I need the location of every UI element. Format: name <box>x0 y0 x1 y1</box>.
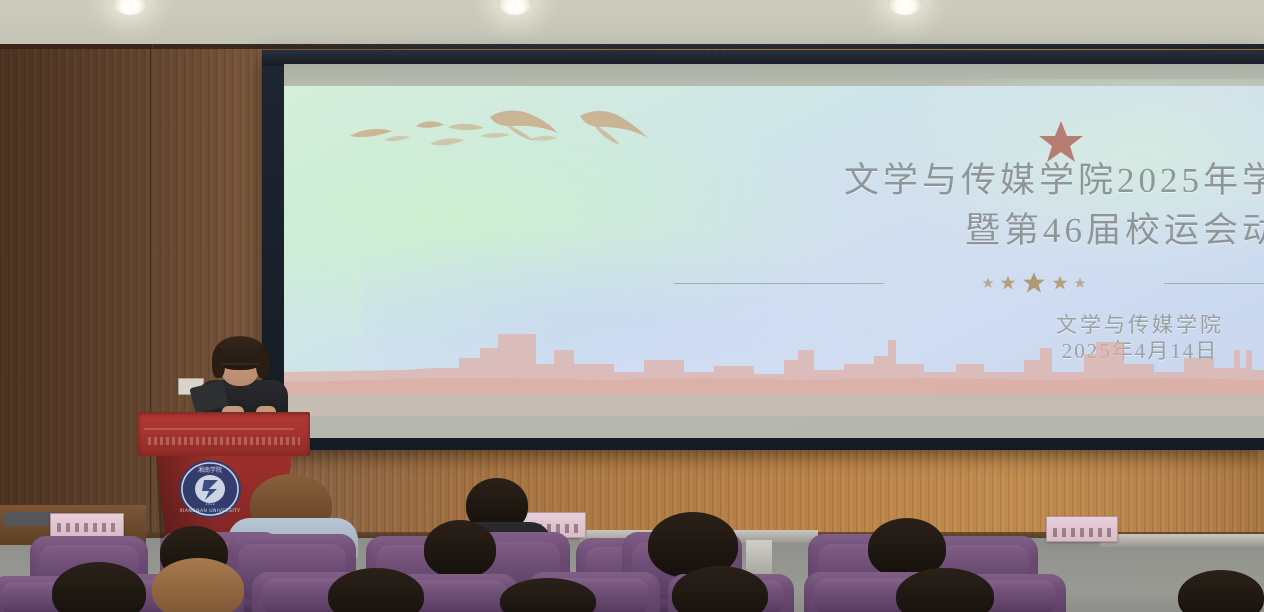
presenter-eyeglasses <box>222 363 259 372</box>
podium-engraved-text <box>148 437 300 445</box>
audience-head <box>152 558 244 612</box>
podium-top <box>138 412 310 456</box>
slide-divider-row <box>674 270 1234 296</box>
presenter-at-podium <box>186 338 298 422</box>
star-icon <box>1052 275 1068 291</box>
ceiling-light <box>113 0 147 15</box>
star-icon <box>1074 277 1086 289</box>
audience-head <box>424 520 496 578</box>
divider-line-left <box>674 283 884 284</box>
ceiling-light <box>888 0 922 15</box>
star-icon <box>1000 275 1016 291</box>
star-icon <box>1022 271 1046 295</box>
ceiling-light <box>498 0 532 15</box>
audience-seating <box>0 470 1264 612</box>
projected-slide: 文学与传媒学院2025年学风 暨第46届校运会动员 文学与传媒学院 2025年4… <box>284 64 1264 438</box>
slide-title-line-1: 文学与传媒学院2025年学风 <box>340 156 1264 206</box>
projector-screen-frame: 文学与传媒学院2025年学风 暨第46届校运会动员 文学与传媒学院 2025年4… <box>262 50 1264 450</box>
wall-top-edge <box>0 44 1264 49</box>
star-icon <box>982 277 994 289</box>
audience-head <box>1178 570 1264 612</box>
city-skyline-silhouette-icon <box>284 320 1264 438</box>
slide-title: 文学与传媒学院2025年学风 暨第46届校运会动员 <box>284 156 1264 255</box>
star-row <box>884 270 1184 296</box>
slide-title-line-2: 暨第46届校运会动员 <box>340 206 1264 256</box>
lecture-hall-photo: 文学与传媒学院2025年学风 暨第46届校运会动员 文学与传媒学院 2025年4… <box>0 0 1264 612</box>
